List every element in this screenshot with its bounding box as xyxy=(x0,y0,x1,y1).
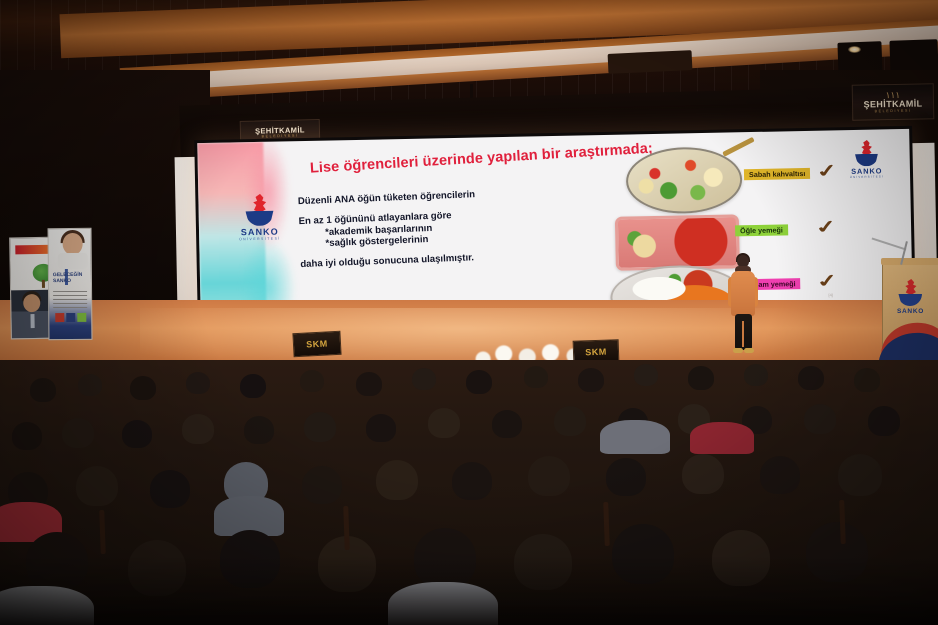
audience-head xyxy=(634,364,658,386)
audience-head xyxy=(76,466,118,506)
rollup-b-chip-2 xyxy=(66,313,75,322)
speaker-presenter xyxy=(728,255,758,355)
audience-head xyxy=(838,454,882,496)
led-presentation-screen: Lise öğrencileri üzerinde yapılan bir ar… xyxy=(194,126,916,326)
sehitkamil-banner-name: ŞEHİTKAMİL xyxy=(863,99,922,109)
audience-head xyxy=(186,372,210,394)
audience-head xyxy=(798,366,824,390)
rollup-banner-left-b: GELECEĞİN SANKO xyxy=(48,228,93,340)
audience-shoulders xyxy=(690,422,754,454)
audience-head xyxy=(122,420,152,448)
audience-head xyxy=(804,404,836,434)
audience-head xyxy=(130,376,156,400)
seat-divider xyxy=(603,502,610,546)
seat-divider xyxy=(839,500,846,544)
slide-body-line-3: daha iyi olduğu sonucuna ulaşılmıştır. xyxy=(300,247,610,270)
skm-box-left: SKM xyxy=(292,331,341,357)
meal-label-lunch: Öğle yemeği xyxy=(735,224,788,236)
podium-logo-name: SANKO xyxy=(897,308,924,315)
crescent-bowl-icon xyxy=(855,154,878,167)
sanko-logo-podium: SANKO xyxy=(897,279,924,315)
audience-head xyxy=(760,456,800,494)
sehitkamil-emblem-icon: ١١١ xyxy=(886,91,901,100)
audience-head xyxy=(150,470,190,508)
audience-head xyxy=(466,370,492,394)
rollup-b-body xyxy=(58,253,88,269)
speaker-shoe-left xyxy=(733,348,743,353)
crescent-bowl-icon xyxy=(898,294,922,306)
speaker-leg-gap xyxy=(742,321,744,347)
audience-head xyxy=(62,418,94,448)
audience-head xyxy=(376,460,418,500)
skm-box-label: SKM xyxy=(306,338,328,349)
checkmark-icon-lunch: ✓ xyxy=(814,217,839,236)
food-photo-lunch xyxy=(615,214,740,270)
audience-head xyxy=(744,364,768,386)
rollup-b-chip-3 xyxy=(77,313,86,322)
audience-head xyxy=(554,406,586,436)
flame-icon xyxy=(860,140,873,156)
tree-trunk xyxy=(42,280,45,288)
sanko-logo-slide-left: SANKO ÜNİVERSİTESİ xyxy=(238,194,281,242)
slide-body-line-1: Düzenli ANA öğün tüketen öğrencilerin xyxy=(298,184,608,207)
audience-head xyxy=(304,412,336,442)
audience-shoulders xyxy=(600,420,670,454)
meal-label-breakfast: Sabah kahvaltısı xyxy=(744,168,811,181)
rollup-portrait-tie xyxy=(30,314,34,328)
audience-head xyxy=(240,374,266,398)
slide-surface: Lise öğrencileri üzerinde yapılan bir ar… xyxy=(197,129,912,323)
audience-head xyxy=(12,422,42,450)
flame-icon xyxy=(252,194,267,213)
audience-head xyxy=(30,378,56,402)
checkmark-icon-dinner: ✓ xyxy=(815,271,840,290)
audience-head xyxy=(868,406,900,436)
rollup-b-chip-1 xyxy=(55,313,64,322)
crescent-bowl-icon xyxy=(245,211,273,227)
speaker-coat xyxy=(731,271,755,316)
rollup-b-headline: GELECEĞİN SANKO xyxy=(53,273,91,284)
seat-divider xyxy=(343,506,350,550)
podium-top-surface xyxy=(881,258,938,265)
checkmark-icon-breakfast: ✓ xyxy=(815,161,840,180)
lectern-podium: SANKO xyxy=(882,262,938,364)
audience-head xyxy=(302,466,342,504)
seat-divider xyxy=(99,510,106,554)
audience-head xyxy=(412,368,436,390)
sanko-logo-subtitle: ÜNİVERSİTESİ xyxy=(850,176,884,179)
audience-head xyxy=(182,414,214,444)
rollup-b-text-lines xyxy=(53,291,87,311)
audience-head xyxy=(356,372,382,396)
ceiling-ac-vent xyxy=(608,50,693,74)
audience-head xyxy=(854,368,880,392)
sanko-logo-slide-topright: SANKO ÜNİVERSİTESİ xyxy=(849,140,884,180)
audience-head xyxy=(606,458,646,496)
audience-head xyxy=(492,410,522,438)
downlight-icon xyxy=(848,46,861,53)
audience-head xyxy=(366,414,396,442)
flame-icon xyxy=(904,279,917,295)
audience-head xyxy=(244,416,274,444)
audience-head xyxy=(578,368,604,392)
rollup-b-face xyxy=(63,233,83,255)
audience-head xyxy=(528,456,570,496)
food-photo-breakfast xyxy=(625,146,742,214)
audience-head xyxy=(452,462,492,500)
audience-head xyxy=(688,366,714,390)
audience-head xyxy=(78,374,102,396)
speaker-shoe-right xyxy=(744,348,754,353)
skm-box-label: SKM xyxy=(585,346,607,357)
auditorium-presentation-scene: ١١١ ŞEHİTKAMİL BELEDİYESİ ١١١ ŞEHİTKAMİL… xyxy=(0,0,938,625)
slide-corner-mark: [4] xyxy=(828,292,833,297)
audience-head xyxy=(524,366,548,388)
audience-head xyxy=(300,370,324,392)
foreground-shadow xyxy=(0,556,938,625)
audience-head xyxy=(682,454,724,494)
sehitkamil-banner-topright: ١١١ ŞEHİTKAMİL BELEDİYESİ xyxy=(852,83,935,120)
sehitkamil-banner-subtitle: BELEDİYESİ xyxy=(875,109,912,113)
slide-body-text: Düzenli ANA öğün tüketen öğrencilerin En… xyxy=(298,184,611,271)
audience-head xyxy=(428,408,460,438)
